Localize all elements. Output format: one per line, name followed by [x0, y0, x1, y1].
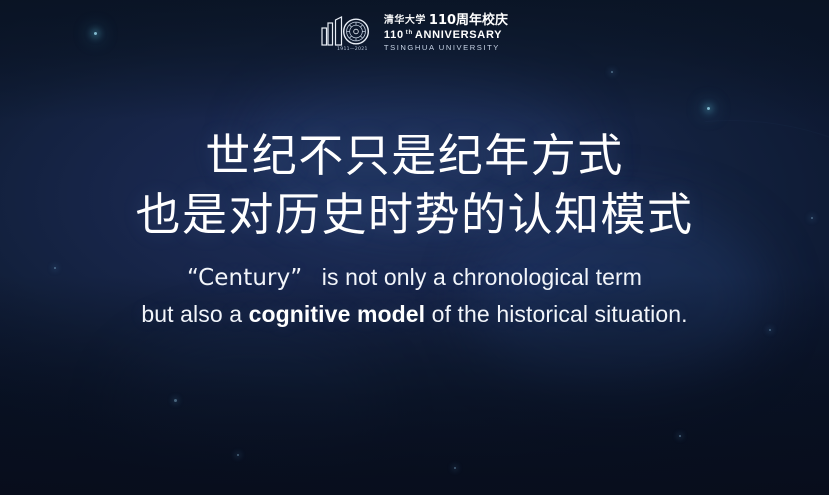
- logo-anniversary-number: 110: [384, 30, 404, 41]
- subtitle-line-1-rest: is not only a chronological term: [322, 264, 642, 290]
- logo-text-block: 清华大学 110周年校庆 110th ANNIVERSARY TSINGHUA …: [384, 14, 508, 52]
- logo-university-cn: 清华大学: [384, 16, 426, 26]
- headline-chinese: 世纪不只是纪年方式 也是对历史时势的认知模式: [0, 126, 829, 244]
- headline-chinese-line-2: 也是对历史时势的认知模式: [0, 185, 829, 244]
- subtitle-emphasis: cognitive model: [249, 301, 426, 327]
- background-particle: [237, 454, 239, 456]
- background-particle: [454, 467, 456, 469]
- logo-anniversary-ordinal: th: [406, 30, 413, 36]
- subtitle-english: “Century” is not only a chronological te…: [0, 259, 829, 332]
- headline-chinese-line-1: 世纪不只是纪年方式: [0, 126, 829, 185]
- logo-headline-cn: 110周年校庆: [429, 14, 508, 27]
- subtitle-quoted-term: “Century”: [187, 265, 302, 291]
- presentation-slide: 1911—2021 清华大学 110周年校庆 110th ANNIVERSARY…: [0, 0, 829, 495]
- header-logo-bar: 1911—2021 清华大学 110周年校庆 110th ANNIVERSARY…: [0, 14, 829, 52]
- anniversary-110-mark-icon: 1911—2021: [321, 15, 377, 51]
- logo-chinese-line: 清华大学 110周年校庆: [384, 14, 508, 27]
- background-particle: [174, 399, 177, 402]
- logo-university-en: TSINGHUA UNIVERSITY: [384, 44, 508, 52]
- subtitle-line-2-pre: but also a: [141, 301, 248, 327]
- logo-anniversary-word: ANNIVERSARY: [415, 30, 502, 41]
- subtitle-line-2-post: of the historical situation.: [425, 301, 687, 327]
- logo-anniversary-line: 110th ANNIVERSARY: [384, 30, 508, 41]
- background-particle: [611, 71, 613, 73]
- tsinghua-anniversary-logo: 1911—2021 清华大学 110周年校庆 110th ANNIVERSARY…: [321, 14, 508, 52]
- subtitle-english-line-1: “Century” is not only a chronological te…: [0, 259, 829, 296]
- background-particle: [679, 435, 681, 437]
- background-particle: [707, 107, 710, 110]
- slide-content: 世纪不只是纪年方式 也是对历史时势的认知模式 “Century” is not …: [0, 126, 829, 332]
- logo-year-range: 1911—2021: [337, 46, 368, 51]
- subtitle-english-line-2: but also a cognitive model of the histor…: [0, 296, 829, 332]
